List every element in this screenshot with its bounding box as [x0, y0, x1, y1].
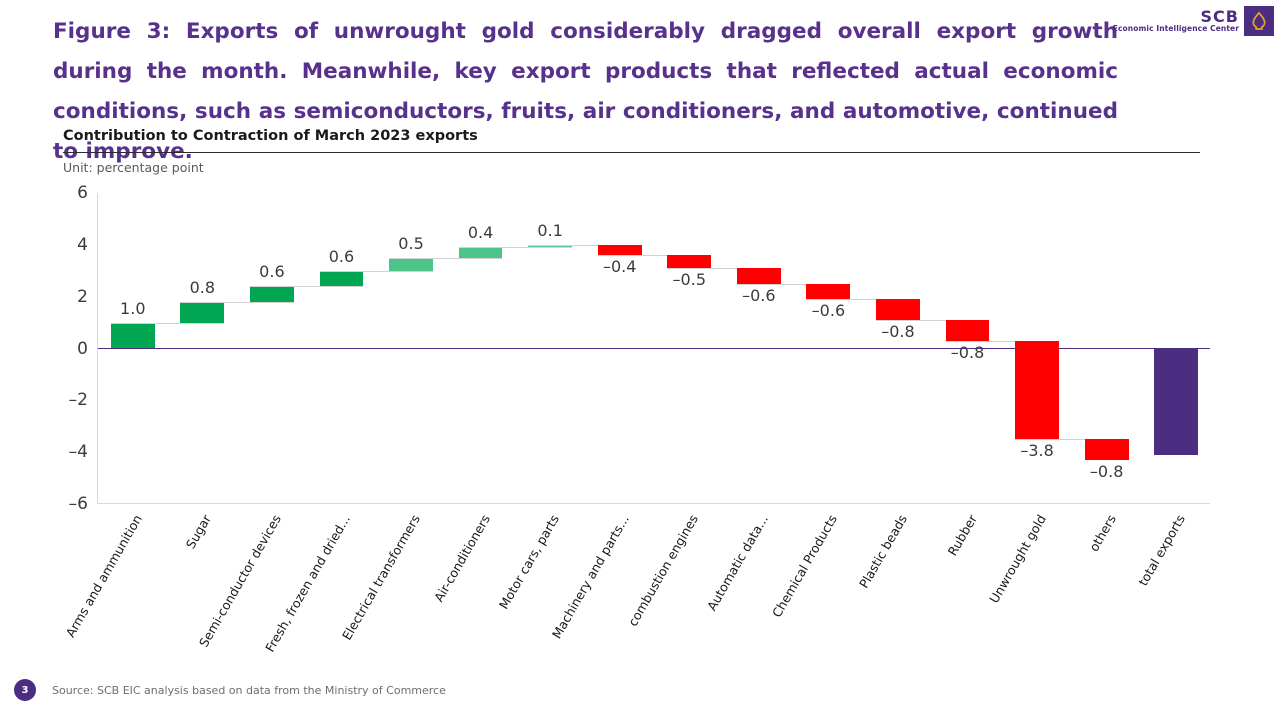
- waterfall-plot-area: 6420–2–4–6 1.00.80.60.60.50.40.1–0.4–0.5…: [97, 193, 1210, 504]
- bar-value-label: 0.1: [537, 221, 562, 240]
- y-axis-tick: 0: [77, 339, 88, 359]
- chart-unit-label: Unit: percentage point: [63, 160, 204, 175]
- x-axis-tick-label: combustion engines: [625, 512, 701, 629]
- bar-value-label: –0.4: [603, 257, 636, 276]
- x-axis-tick-label: Machinery and parts...: [549, 512, 632, 641]
- x-axis-tick-label: others: [1086, 512, 1119, 554]
- y-axis-tick: 2: [77, 287, 88, 307]
- waterfall-bar: [111, 323, 155, 349]
- waterfall-bar: [946, 320, 990, 341]
- x-axis-tick-label: Semi-conductor devices: [196, 512, 284, 650]
- bar-value-label: –3.8: [1020, 441, 1053, 460]
- logo-brand: SCB: [1113, 9, 1239, 26]
- x-axis-tick-label: Automatic data...: [704, 512, 771, 613]
- x-axis-tick-label: Air-conditioners: [431, 512, 493, 604]
- waterfall-connector: [320, 271, 433, 272]
- x-axis-tick-label: Arms and ammunition: [62, 512, 144, 640]
- bar-value-label: 1.0: [120, 299, 145, 318]
- bar-value-label: –0.5: [673, 270, 706, 289]
- chart-title: Contribution to Contraction of March 202…: [63, 128, 478, 144]
- waterfall-connector: [459, 247, 572, 248]
- scb-emblem-icon: [1244, 6, 1274, 36]
- waterfall-bar: [806, 284, 850, 300]
- y-axis-tick: –2: [69, 390, 88, 410]
- waterfall-bar: [1085, 439, 1129, 460]
- waterfall-bar: [250, 286, 294, 302]
- y-axis-tick: –6: [69, 494, 88, 514]
- x-axis-tick-label: Motor cars, parts: [496, 512, 562, 612]
- x-axis-tick-label: Electrical transformers: [339, 512, 423, 643]
- x-axis-tick-label: Rubber: [944, 512, 979, 558]
- waterfall-connector: [111, 323, 224, 324]
- waterfall-bar: [1015, 341, 1059, 439]
- waterfall-bar: [389, 258, 433, 271]
- y-axis-tick: 4: [77, 235, 88, 255]
- waterfall-bar: [180, 302, 224, 323]
- waterfall-bar: [598, 245, 642, 255]
- logo-subbrand: Economic Intelligence Center: [1113, 25, 1239, 33]
- logo-text-block: SCB Economic Intelligence Center: [1113, 9, 1239, 34]
- bar-value-label: –0.6: [742, 286, 775, 305]
- bar-value-label: 0.6: [329, 247, 354, 266]
- waterfall-bar: [667, 255, 711, 268]
- bar-value-label: –0.8: [1090, 462, 1123, 481]
- x-axis-tick-label: total exports: [1135, 512, 1188, 588]
- waterfall-bar: [459, 247, 503, 257]
- scb-eic-logo: SCB Economic Intelligence Center: [1113, 6, 1274, 36]
- bar-value-label: 0.6: [259, 262, 284, 281]
- waterfall-bar: [1154, 349, 1198, 455]
- title-divider: [63, 152, 1200, 153]
- source-note: Source: SCB EIC analysis based on data f…: [52, 684, 446, 697]
- bar-value-label: –0.8: [881, 322, 914, 341]
- waterfall-bar: [876, 299, 920, 320]
- bar-value-label: 0.4: [468, 223, 493, 242]
- x-axis-tick-label: Plastic beads: [856, 512, 910, 591]
- page-number-badge: 3: [14, 679, 36, 701]
- waterfall-bar: [320, 271, 364, 287]
- bar-value-label: 0.8: [190, 278, 215, 297]
- bar-value-label: –0.8: [951, 343, 984, 362]
- y-axis-tick: –4: [69, 442, 88, 462]
- bar-value-label: –0.6: [812, 301, 845, 320]
- waterfall-connector: [180, 302, 293, 303]
- waterfall-bar: [737, 268, 781, 284]
- x-axis-tick-label: Sugar: [183, 512, 214, 551]
- x-axis-tick-label: Unwrought gold: [986, 512, 1049, 606]
- page-title: Figure 3: Exports of unwrought gold cons…: [53, 12, 1118, 172]
- waterfall-connector: [389, 258, 502, 259]
- waterfall-connector: [250, 286, 363, 287]
- y-axis-tick: 6: [77, 183, 88, 203]
- bar-value-label: 0.5: [398, 234, 423, 253]
- x-axis-tick-label: Chemical Products: [769, 512, 840, 620]
